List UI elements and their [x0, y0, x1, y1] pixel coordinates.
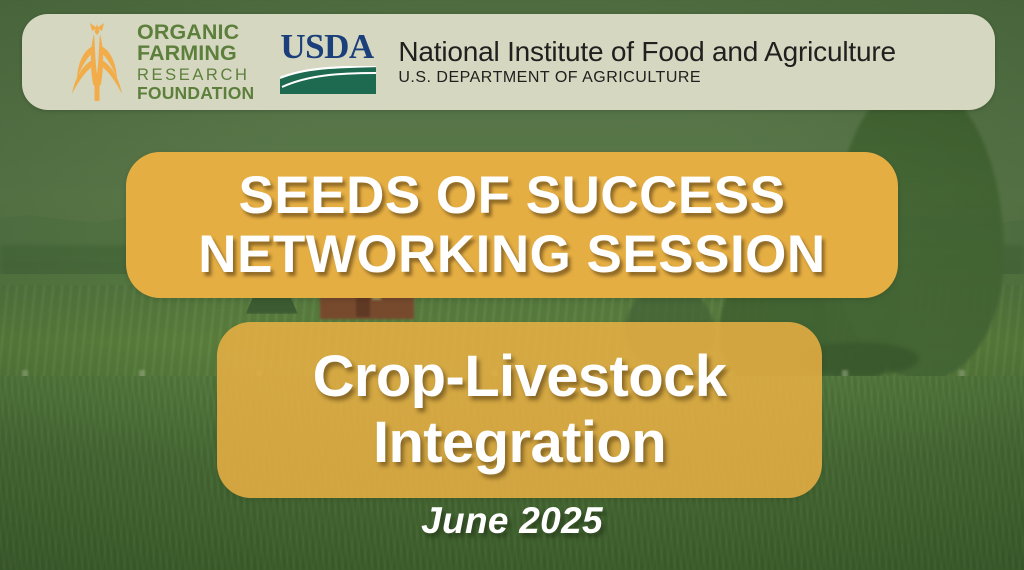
- ofrf-line-foundation: FOUNDATION: [137, 85, 254, 103]
- ofrf-line-organic: ORGANIC: [137, 22, 254, 44]
- nifa-department: U.S. DEPARTMENT OF AGRICULTURE: [398, 69, 895, 87]
- subtitle-line-1: Crop-Livestock: [313, 344, 727, 410]
- main-title-banner: SEEDS OF SUCCESS NETWORKING SESSION: [126, 152, 898, 298]
- title-line-2: NETWORKING SESSION: [198, 225, 825, 284]
- usda-nifa-logo: USDA National Institute of Food and Agri…: [280, 29, 895, 95]
- subtitle-banner: Crop-Livestock Integration: [217, 322, 822, 498]
- subtitle-line-2: Integration: [373, 410, 666, 476]
- nifa-text: National Institute of Food and Agricultu…: [398, 37, 895, 87]
- logo-header-bar: ORGANIC FARMING RESEARCH FOUNDATION USDA…: [22, 14, 995, 110]
- event-date: June 2025: [0, 500, 1024, 542]
- ofrf-wordmark: ORGANIC FARMING RESEARCH FOUNDATION: [137, 22, 254, 103]
- usda-landscape-swoosh-icon: [280, 66, 376, 94]
- presentation-slide: ORGANIC FARMING RESEARCH FOUNDATION USDA…: [0, 0, 1024, 570]
- ofrf-logo: ORGANIC FARMING RESEARCH FOUNDATION: [22, 22, 254, 103]
- ofrf-line-research: RESEARCH: [137, 67, 254, 84]
- ofrf-line-farming: FARMING: [137, 43, 254, 65]
- usda-wordmark: USDA: [280, 29, 376, 64]
- title-line-1: SEEDS OF SUCCESS: [239, 166, 786, 225]
- corn-stalk-icon: [66, 22, 128, 102]
- usda-logo-mark: USDA: [280, 29, 376, 95]
- nifa-agency-name: National Institute of Food and Agricultu…: [398, 37, 895, 66]
